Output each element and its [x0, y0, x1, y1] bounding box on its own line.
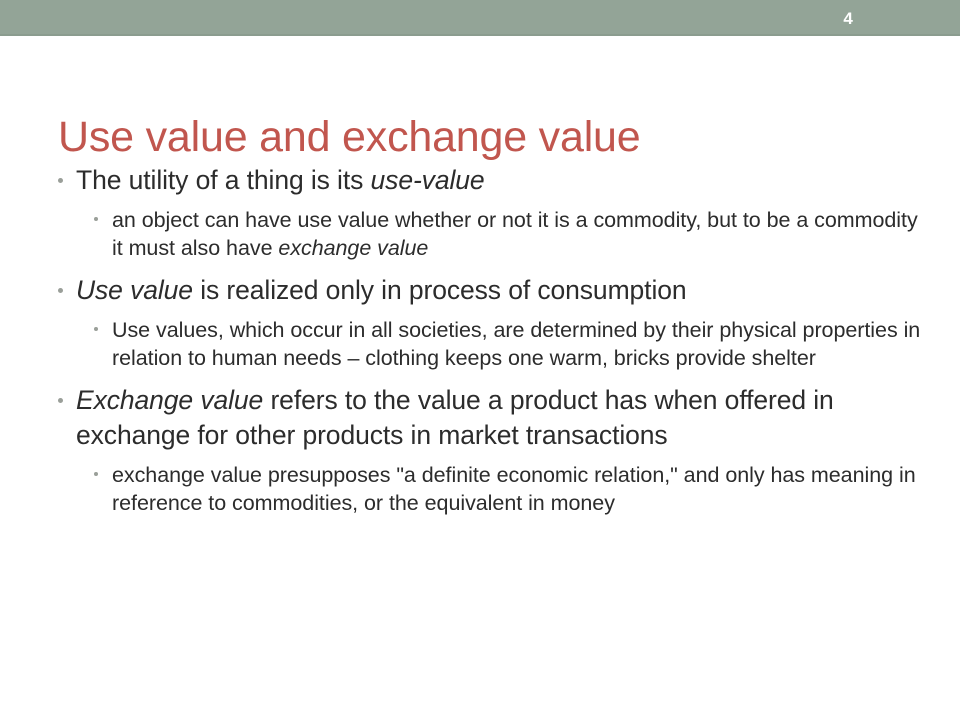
slide-header-band: 4 [0, 0, 960, 36]
bullet-text: an object can have use value whether or … [112, 208, 918, 260]
bullet-text: exchange value presupposes "a definite e… [112, 463, 916, 515]
bullet-item-exchange-value-definition: Exchange value refers to the value a pro… [52, 383, 928, 453]
slide-canvas: 4 Use value and exchange value The utili… [0, 0, 960, 720]
text-run: an object can have use value whether or … [112, 208, 918, 260]
bullet-group-spacer [52, 264, 928, 273]
bullet-dot-icon [94, 217, 98, 221]
text-run: exchange value presupposes "a definite e… [112, 463, 916, 515]
slide-number: 4 [0, 9, 853, 28]
bullet-text: Use value is realized only in process of… [76, 275, 687, 305]
bullet-group-spacer [52, 374, 928, 383]
emphasis-term: Use value [76, 275, 193, 305]
bullet-item-object-use-value-commodity: an object can have use value whether or … [52, 206, 928, 262]
text-run: is realized only in process of consumpti… [193, 275, 687, 305]
bullet-dot-icon [58, 288, 63, 293]
emphasis-term: exchange value [278, 236, 428, 260]
text-run: Use values, which occur in all societies… [112, 318, 920, 370]
emphasis-term: Exchange value [76, 385, 263, 415]
bullet-item-use-value-consumption: Use value is realized only in process of… [52, 273, 928, 308]
text-run: The utility of a thing is its [76, 165, 371, 195]
bullet-item-exchange-value-presupposes: exchange value presupposes "a definite e… [52, 461, 928, 517]
bullet-item-use-values-societies: Use values, which occur in all societies… [52, 316, 928, 372]
bullet-dot-icon [94, 472, 98, 476]
bullet-dot-icon [58, 178, 63, 183]
bullet-dot-icon [94, 327, 98, 331]
bullet-dot-icon [58, 398, 63, 403]
bullet-item-utility-use-value: The utility of a thing is its use-value [52, 163, 928, 198]
slide-body: The utility of a thing is its use-valuea… [52, 163, 928, 519]
bullet-text: The utility of a thing is its use-value [76, 165, 485, 195]
emphasis-term: use-value [371, 165, 485, 195]
bullet-text: Exchange value refers to the value a pro… [76, 385, 834, 450]
page-title: Use value and exchange value [58, 111, 918, 163]
bullet-text: Use values, which occur in all societies… [112, 318, 920, 370]
